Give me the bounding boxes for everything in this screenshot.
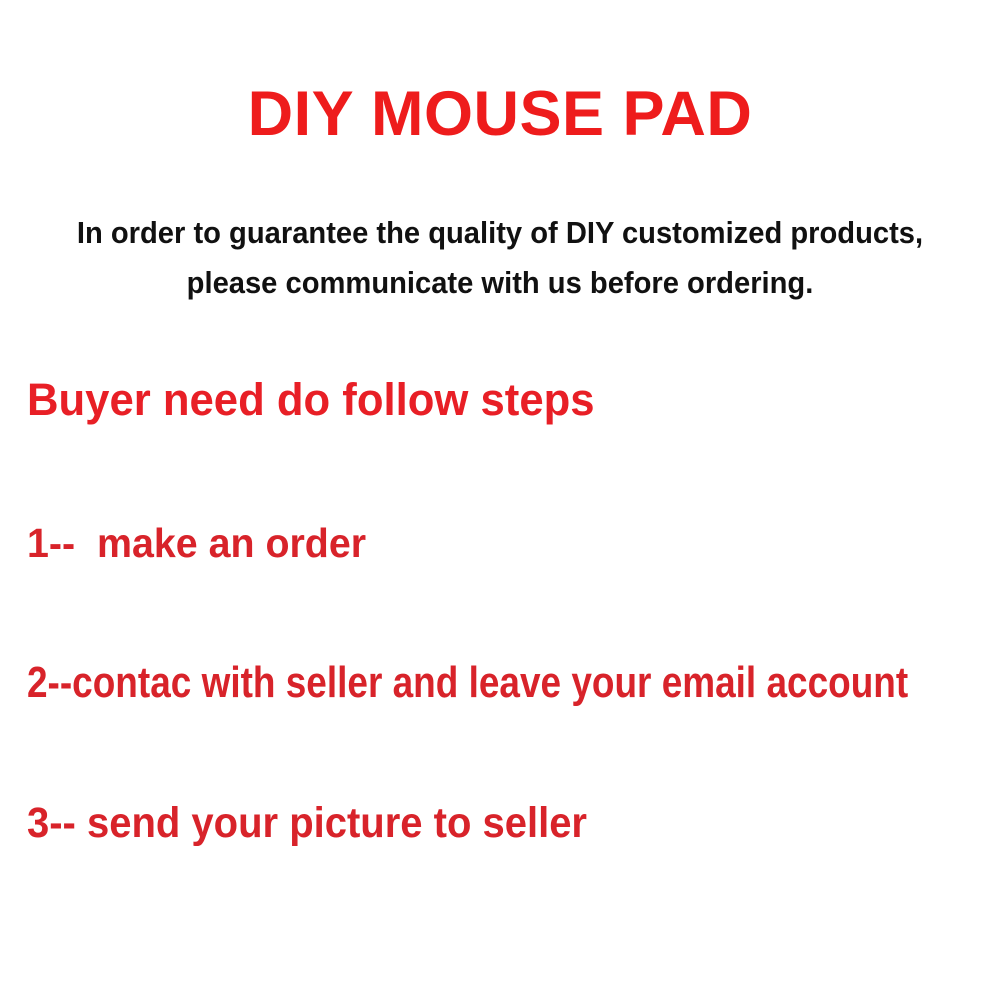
section-heading-buyer-steps: Buyer need do follow steps xyxy=(27,373,595,427)
step-item-2: 2--contac with seller and leave your ema… xyxy=(27,658,908,708)
intro-line-1: In order to guarantee the quality of DIY… xyxy=(30,208,970,258)
intro-paragraph: In order to guarantee the quality of DIY… xyxy=(0,208,1000,308)
promo-banner: DIY MOUSE PAD In order to guarantee the … xyxy=(0,0,1000,1000)
step-item-3: 3-- send your picture to seller xyxy=(27,798,587,848)
step-item-1: 1-- make an order xyxy=(27,518,366,568)
intro-line-2: please communicate with us before orderi… xyxy=(30,258,970,308)
page-title: DIY MOUSE PAD xyxy=(0,78,1000,150)
